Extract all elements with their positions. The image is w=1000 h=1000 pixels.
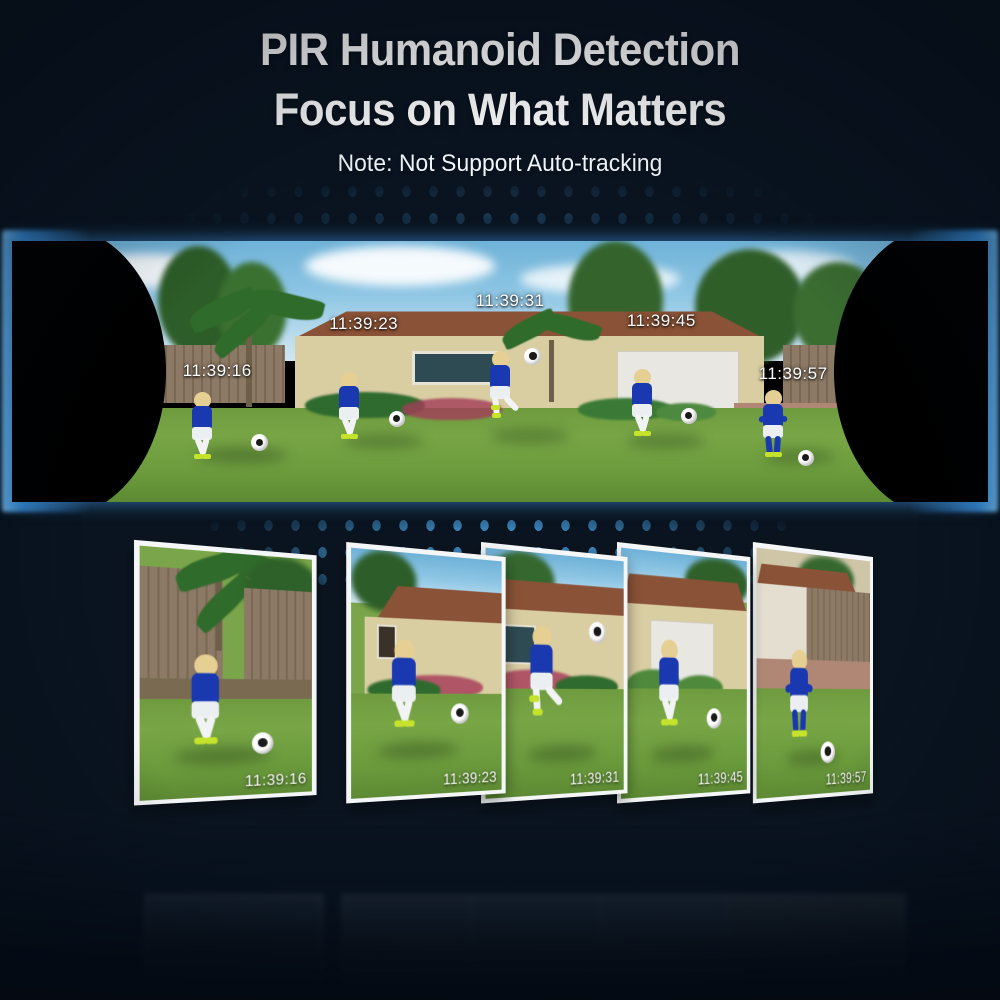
thumbnail-card[interactable]: 11:39:16 [134,540,317,806]
panorama-timestamp: 11:39:31 [476,291,545,311]
house-window [412,351,500,385]
thumbnail-strip: 11:39:16 11:39: [0,548,1000,848]
thumbnail-photo: 11:39:31 [486,548,624,799]
page-title-line-2: Focus on What Matters [35,85,965,135]
subtitle-note: Note: Not Support Auto-tracking [25,150,975,178]
product-feature-banner: PIR Humanoid Detection Focus on What Mat… [0,0,1000,1000]
thumbnail-photo: 11:39:23 [351,548,502,799]
thumbnail-photo: 11:39:16 [140,546,312,801]
thumbnail-timestamp: 11:39:57 [826,769,867,789]
ground-shadow [490,429,570,443]
thumbnail-photo: 11:39:45 [621,548,747,799]
panorama-viewport: 11:39:16 11:39:23 11:39:31 11:39:45 11:3… [12,241,988,502]
panorama-timestamp: 11:39:45 [627,311,696,331]
shrub [402,398,502,420]
thumbnail-card[interactable]: 11:39:57 [753,542,873,803]
thumbnail-card[interactable]: 11:39:45 [617,542,750,803]
panorama-timestamp: 11:39:16 [183,361,252,381]
page-title-line-1: PIR Humanoid Detection [35,25,965,75]
palm-trunk [549,340,554,402]
reflection-fade [0,846,1000,1000]
panorama-timestamp: 11:39:23 [329,314,398,334]
soccer-ball [707,708,722,728]
header-block: PIR Humanoid Detection Focus on What Mat… [0,0,1000,232]
ground-shadow [627,434,705,448]
thumbnail-timestamp: 11:39:23 [443,769,497,789]
reflection-mirror [0,846,1000,1000]
soccer-ball [589,621,606,643]
panorama-timestamp: 11:39:57 [759,364,828,384]
thumbnail-timestamp: 11:39:45 [698,769,743,789]
thumbnail-card[interactable]: 11:39:23 [346,542,505,803]
cloud-icon [305,246,495,286]
thumbnail-photo: 11:39:57 [757,548,871,799]
soccer-ball [451,703,469,723]
soccer-ball [798,450,814,466]
soccer-ball [821,741,835,763]
soccer-ball [389,411,405,427]
soccer-ball [681,408,697,424]
thumbnail-reflection [0,846,1000,1000]
thumbnail-timestamp: 11:39:31 [570,769,620,789]
thumbnail-timestamp: 11:39:16 [245,771,307,792]
